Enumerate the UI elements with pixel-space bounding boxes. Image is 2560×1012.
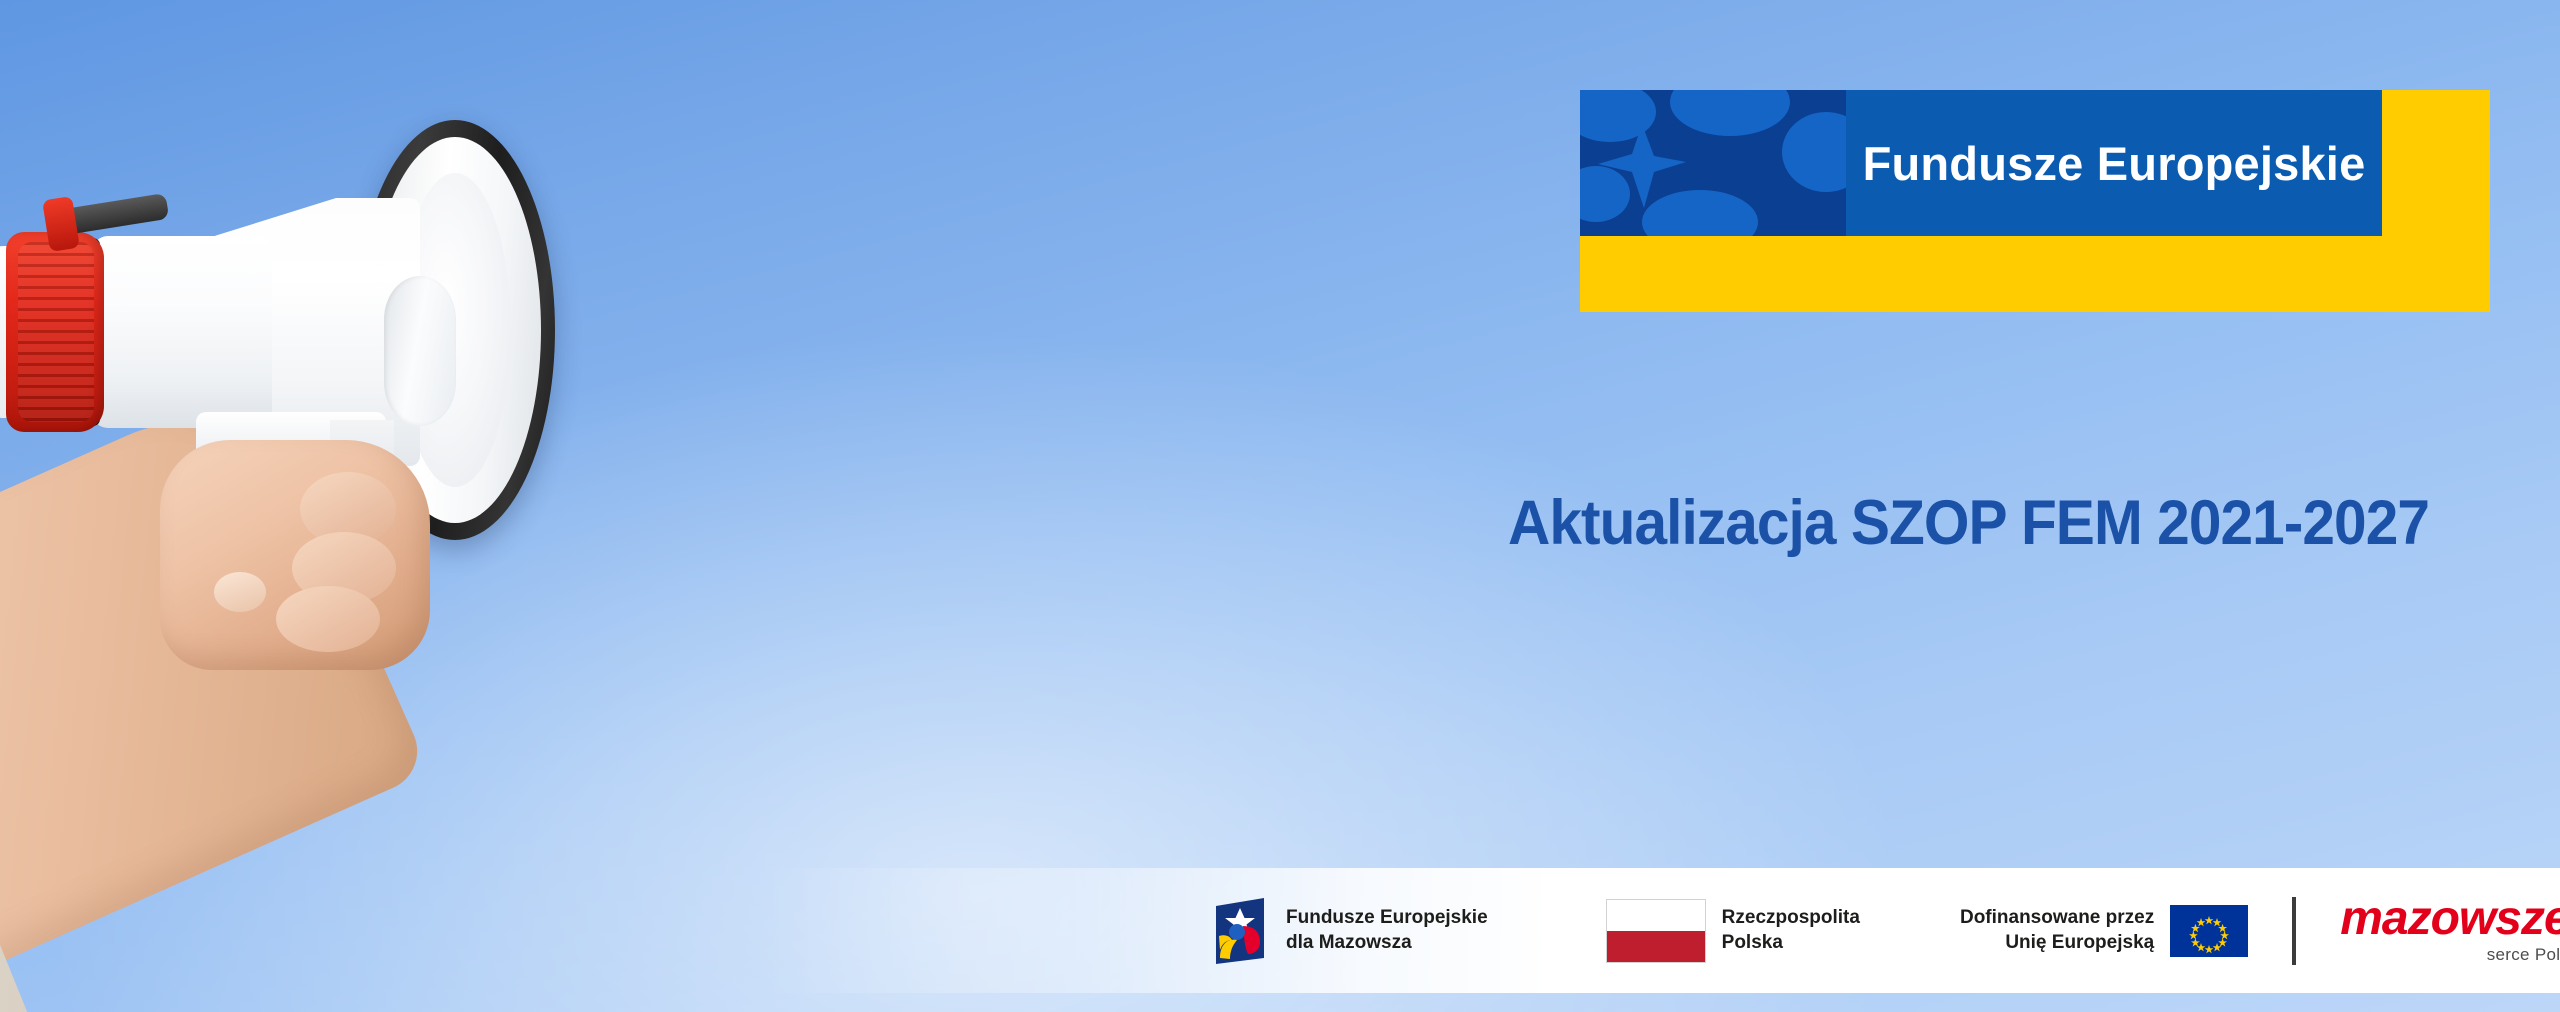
logo-poland-text: Rzeczpospolita Polska (1722, 906, 1860, 955)
thumb (214, 572, 266, 612)
eu-funding-logo-bar: Fundusze Europejskie dla Mazowsza Rzeczp… (760, 868, 2560, 993)
mazowsze-tagline: serce Polski (2487, 945, 2560, 965)
logo-line-2: Unię Europejską (1960, 931, 2154, 955)
european-union-flag-icon (2170, 905, 2248, 957)
flag-stripe-red (1607, 931, 1705, 962)
flag-stripe-white (1607, 900, 1705, 931)
logo-line-1: Dofinansowane przez (1960, 906, 2154, 930)
megaphone-barrel (92, 236, 272, 428)
knuckle (276, 586, 380, 652)
megaphone-band-ridges (18, 242, 94, 422)
promo-banner: Fundusze Europejskie Aktualizacja SZOP F… (0, 0, 2560, 1012)
banner-star-pattern (1580, 90, 1846, 236)
eu-stars-icon (2170, 905, 2248, 957)
logo-eu-funding-text: Dofinansowane przez Unię Europejską (1960, 906, 2154, 955)
logo-mazowsze: mazowsze. serce Polski (2340, 896, 2560, 965)
mazowsze-wordmark: mazowsze. (2340, 896, 2560, 942)
star-blob-pattern-icon (1580, 90, 1846, 236)
megaphone-driver (384, 276, 456, 426)
logo-fe-mazowsza-text: Fundusze Europejskie dla Mazowsza (1286, 906, 1488, 955)
logo-line-2: Polska (1722, 931, 1860, 955)
page-title: Aktualizacja SZOP FEM 2021-2027 (1508, 490, 2438, 556)
megaphone-hero-image (0, 120, 790, 1012)
banner-blue-block: Fundusze Europejskie (1580, 90, 2382, 236)
poland-flag-icon (1606, 899, 1706, 963)
logo-line-1: Fundusze Europejskie (1286, 906, 1488, 930)
fundusze-europejskie-label: Fundusze Europejskie (1846, 90, 2382, 236)
logo-line-1: Rzeczpospolita (1722, 906, 1860, 930)
banner-yellow-strip (1580, 233, 2490, 312)
logo-dofinansowane-przez-ue: Dofinansowane przez Unię Europejską (1960, 905, 2248, 957)
logo-line-2: dla Mazowsza (1286, 931, 1488, 955)
logo-separator (2292, 897, 2296, 965)
logo-rzeczpospolita-polska: Rzeczpospolita Polska (1606, 899, 1860, 963)
fundusze-europejskie-banner: Fundusze Europejskie (1580, 90, 2490, 312)
logo-fundusze-europejskie-dla-mazowsza: Fundusze Europejskie dla Mazowsza (1210, 896, 1488, 966)
fundusze-europejskie-flag-star-icon (1210, 896, 1270, 966)
